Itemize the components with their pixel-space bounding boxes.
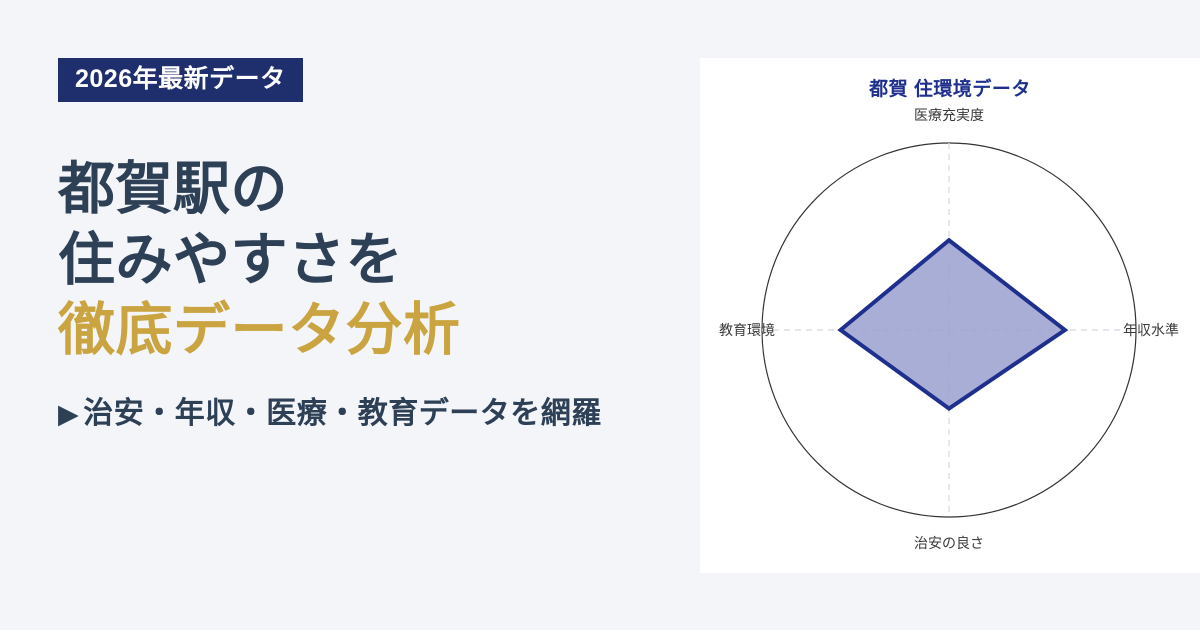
subtitle: ▶治安・年収・医療・教育データを網羅 <box>58 388 700 432</box>
radar-chart-panel: 都賀 住環境データ 医療充実度 年収水準 治安の良さ 教育環境 <box>700 58 1200 573</box>
headline-line-2: 住みやすさを <box>58 225 700 296</box>
latest-data-badge: 2026年最新データ <box>58 58 303 102</box>
axis-label-income: 年収水準 <box>1123 322 1179 338</box>
page-title: 都賀駅の 住みやすさを 徹底データ分析 <box>58 154 700 366</box>
axis-label-education: 教育環境 <box>719 322 775 338</box>
subtitle-text: 治安・年収・医療・教育データを網羅 <box>83 397 602 430</box>
play-triangle-icon: ▶ <box>58 399 79 429</box>
headline-line-1: 都賀駅の <box>58 154 700 225</box>
axis-label-safety: 治安の良さ <box>914 535 984 551</box>
axis-label-medical: 医療充実度 <box>914 107 984 123</box>
radar-chart-svg: 医療充実度 年収水準 治安の良さ 教育環境 <box>700 58 1200 573</box>
radar-data-polygon <box>841 240 1065 408</box>
headline-line-3-accent: 徹底データ分析 <box>58 295 700 366</box>
hero-text-column: 2026年最新データ 都賀駅の 住みやすさを 徹底データ分析 ▶治安・年収・医療… <box>0 0 700 630</box>
